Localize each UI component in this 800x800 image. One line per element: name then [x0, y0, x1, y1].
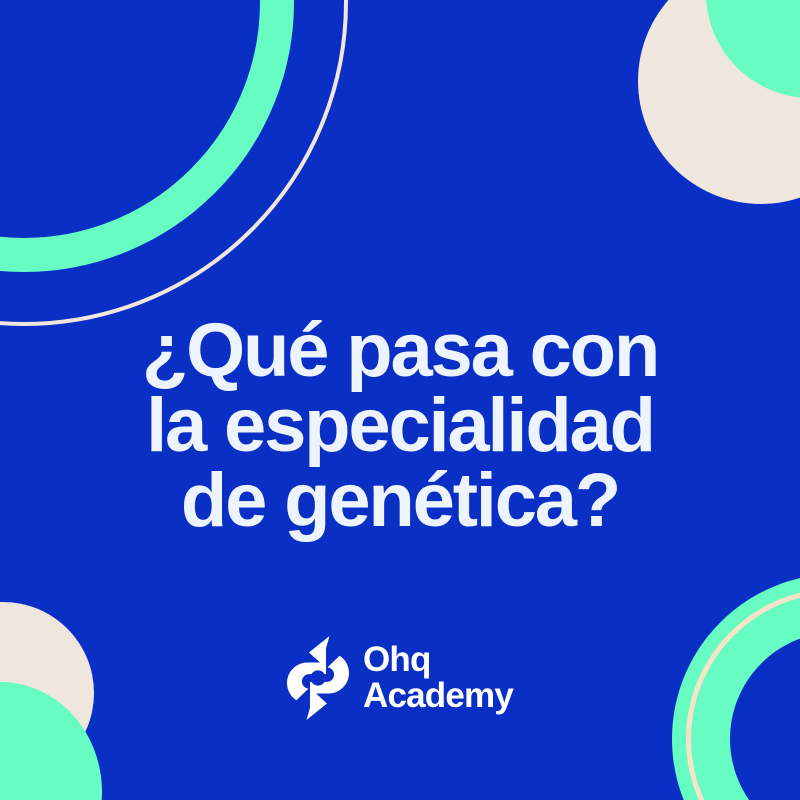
- brand-name-line-1: Ohq: [363, 642, 513, 678]
- headline: ¿Qué pasa con la especialidad de genétic…: [0, 313, 800, 539]
- ohq-monogram-icon: [287, 636, 349, 720]
- headline-line-2: la especialidad: [0, 388, 800, 463]
- top-left-cream-thin-arc: [0, 0, 348, 326]
- brand-logo: Ohq Academy: [0, 636, 800, 720]
- headline-line-3: de genética?: [0, 463, 800, 538]
- social-post-canvas: ¿Qué pasa con la especialidad de genétic…: [0, 0, 800, 800]
- top-right-beige-circle: [638, 0, 800, 204]
- brand-name: Ohq Academy: [363, 642, 513, 713]
- top-right-green-circle: [706, 0, 800, 98]
- brand-name-line-2: Academy: [363, 678, 513, 714]
- top-left-green-arc-ring: [0, 0, 294, 272]
- headline-line-1: ¿Qué pasa con: [0, 313, 800, 388]
